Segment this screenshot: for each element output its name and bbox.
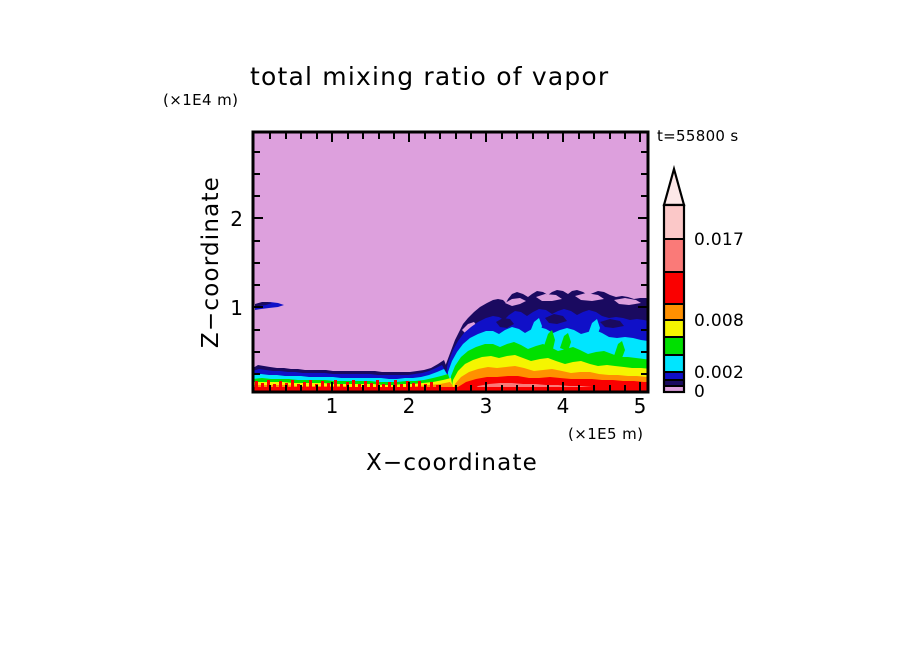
x-axis-unit-label: (×1E5 m) [568, 425, 643, 443]
y-tick-label-1: 1 [230, 296, 243, 320]
x-tick-label-2: 2 [403, 394, 416, 418]
colorbar-band-blue [664, 372, 684, 380]
x-tick-label-4: 4 [557, 394, 570, 418]
y-tick-label-2: 2 [230, 207, 243, 231]
colorbar-band-yellow [664, 320, 684, 337]
x-tick-label-5: 5 [634, 394, 647, 418]
colorbar-label-0: 0 [694, 382, 705, 402]
x-tick-label-1: 1 [326, 394, 339, 418]
time-annotation: t=55800 s [657, 127, 738, 145]
colorbar-label-0008: 0.008 [694, 311, 744, 331]
colorbar-band-orange [664, 304, 684, 320]
colorbar-band-green [664, 337, 684, 355]
colorbar-band-pink [664, 205, 684, 239]
contour-plot-figure: total mixing ratio of vapor (×1E4 m) t=5… [0, 0, 904, 654]
x-axis-label: X−coordinate [366, 450, 538, 476]
y-axis-unit-label: (×1E4 m) [163, 91, 238, 109]
y-axis-label: Z−coordinate [198, 176, 224, 348]
colorbar-band-salmon [664, 239, 684, 272]
colorbar-band-cyan [664, 355, 684, 372]
colorbar-label-0002: 0.002 [694, 363, 744, 383]
x-tick-label-3: 3 [480, 394, 493, 418]
colorbar-band-red [664, 272, 684, 304]
plot-area [253, 132, 652, 392]
colorbar-label-0017: 0.017 [694, 230, 744, 250]
page-title: total mixing ratio of vapor [250, 62, 609, 91]
